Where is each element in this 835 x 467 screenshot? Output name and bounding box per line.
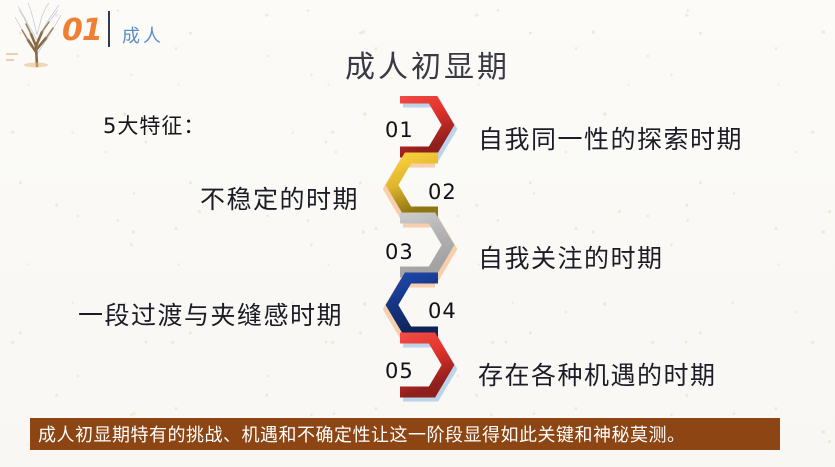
- step-text-03: 自我关注的时期: [478, 239, 664, 275]
- step-number-02: 02: [428, 180, 457, 204]
- step-number-01: 01: [385, 118, 414, 142]
- slide-canvas: 01 成人 成人初显期 5大特征：: [0, 0, 835, 467]
- step-text-02: 不稳定的时期: [200, 180, 359, 216]
- summary-banner: 成人初显期特有的挑战、机遇和不确定性让这一阶段显得如此关键和神秘莫测。: [30, 418, 780, 450]
- step-text-05: 存在各种机遇的时期: [478, 356, 717, 392]
- summary-banner-text: 成人初显期特有的挑战、机遇和不确定性让这一阶段显得如此关键和神秘莫测。: [38, 421, 686, 447]
- step-number-05: 05: [385, 359, 414, 383]
- step-text-01: 自我同一性的探索时期: [478, 120, 743, 156]
- step-number-04: 04: [428, 299, 457, 323]
- step-number-03: 03: [385, 240, 414, 264]
- page-title: 成人初显期: [0, 42, 835, 86]
- step-text-04: 一段过渡与夹缝感时期: [78, 296, 343, 332]
- feature-count-label: 5大特征：: [103, 110, 205, 140]
